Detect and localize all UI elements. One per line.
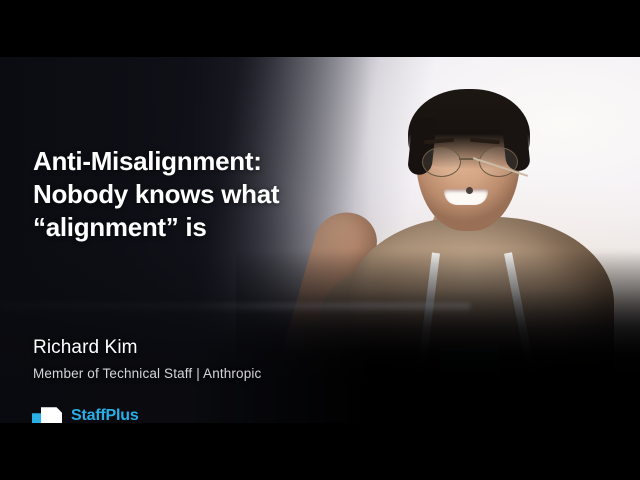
text-overlay: Anti-Misalignment: Nobody knows what “al… [0, 57, 640, 423]
staffplus-new-york-logo: StaffPlus New York [32, 407, 139, 423]
talk-title-line-1: Anti-Misalignment: [33, 145, 363, 178]
video-image-area: Anti-Misalignment: Nobody knows what “al… [0, 57, 640, 423]
talk-title-line-2: Nobody knows what [33, 178, 363, 211]
speaker-role: Member of Technical Staff | Anthropic [33, 366, 261, 381]
logo-sheet-shape [41, 407, 62, 423]
video-still-frame: Anti-Misalignment: Nobody knows what “al… [0, 0, 640, 480]
talk-title: Anti-Misalignment: Nobody knows what “al… [33, 145, 363, 244]
letterbox-bar-top [0, 0, 640, 57]
staffplus-logo-mark-icon [32, 407, 62, 423]
speaker-name: Richard Kim [33, 337, 138, 359]
letterbox-bar-bottom [0, 423, 640, 480]
logo-wordmark: StaffPlus New York [71, 407, 139, 423]
logo-wordmark-line-1: StaffPlus [71, 407, 139, 423]
talk-title-line-3: “alignment” is [33, 211, 363, 244]
